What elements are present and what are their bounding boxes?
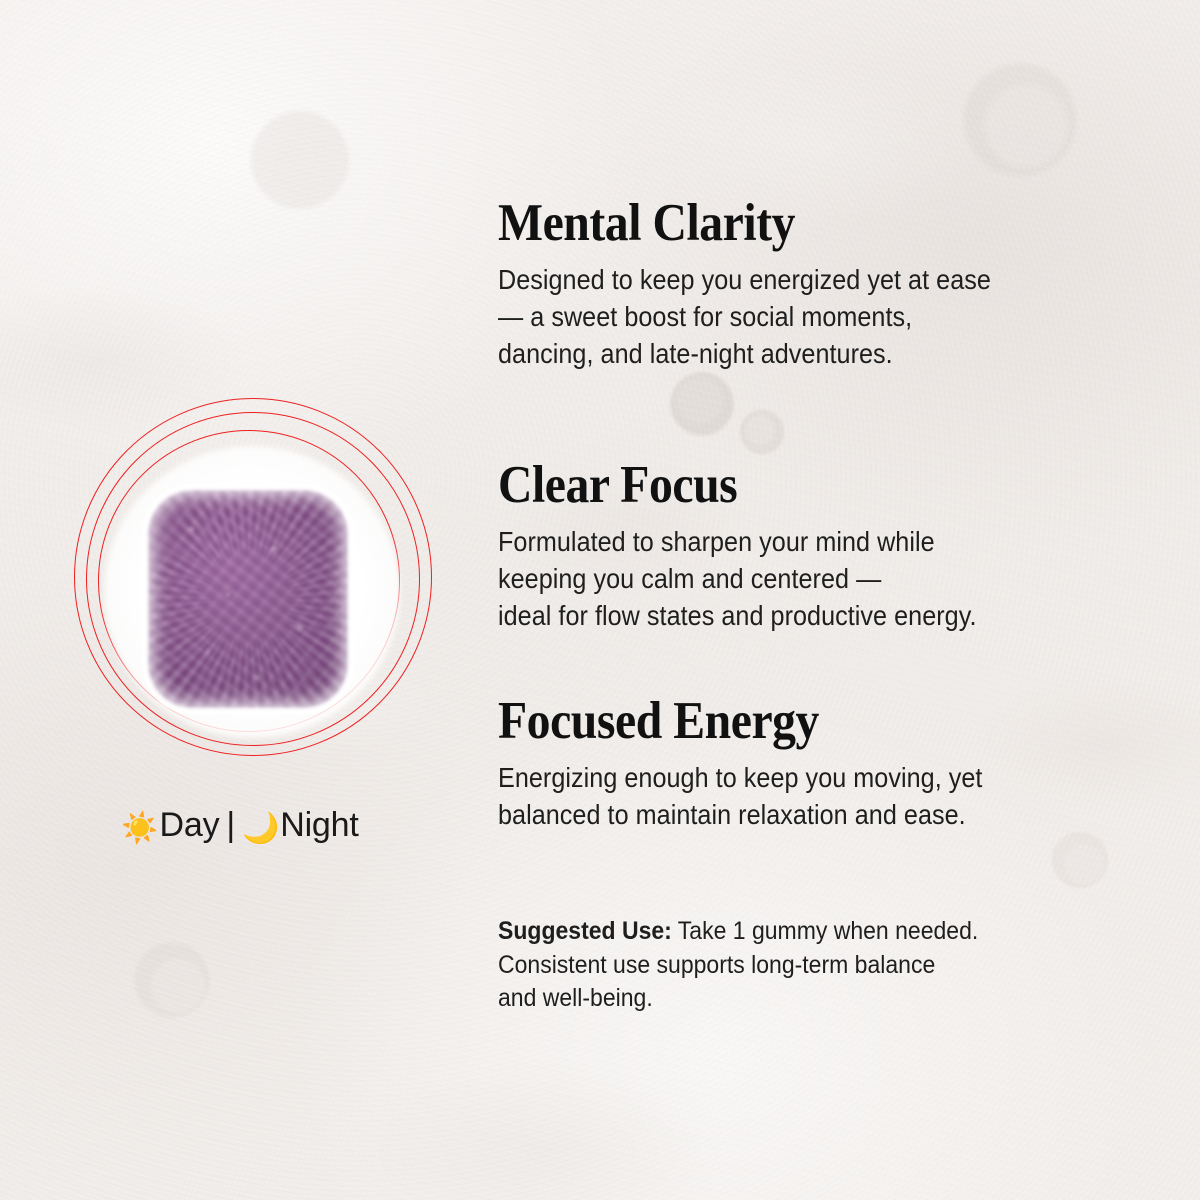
gummy-image [92,432,412,752]
suggested-use-line-2: Consistent use supports long-term balanc… [498,949,1068,983]
separator: | [226,806,235,844]
copy-column: Mental Clarity Designed to keep you ener… [498,0,1138,1200]
section-focused-energy: Focused Energy Energizing enough to keep… [498,694,1118,833]
suggested-use-label: Suggested Use: [498,917,672,945]
body-line: ideal for flow states and productive ene… [498,597,1065,634]
section-body: Formulated to sharpen your mind while ke… [498,523,1065,634]
day-label: Day [160,806,220,844]
body-line: dancing, and late-night adventures. [498,335,1065,372]
section-heading: Clear Focus [498,458,1056,514]
body-line: — a sweet boost for social moments, [498,298,1065,335]
body-line: Energizing enough to keep you moving, ye… [498,759,1065,796]
section-body: Energizing enough to keep you moving, ye… [498,759,1065,833]
suggested-use-line-1: Suggested Use: Take 1 gummy when needed. [498,915,1068,949]
suggested-use-line-3: and well-being. [498,982,1068,1016]
product-visual: ☀️Day|🌙Night [0,0,480,1200]
body-line: Designed to keep you energized yet at ea… [498,261,1065,298]
sun-icon: ☀️ [121,812,158,845]
body-line: Formulated to sharpen your mind while [498,523,1065,560]
gummy-square [148,490,348,708]
moon-icon: 🌙 [242,812,279,845]
section-body: Designed to keep you energized yet at ea… [498,261,1065,372]
day-night-label: ☀️Day|🌙Night [0,806,480,846]
section-heading: Focused Energy [498,694,1056,750]
section-heading: Mental Clarity [498,196,1056,252]
night-label: Night [280,806,358,844]
body-line: balanced to maintain relaxation and ease… [498,796,1065,833]
product-info-card: ☀️Day|🌙Night Mental Clarity Designed to … [0,0,1200,1200]
suggested-use-note: Suggested Use: Take 1 gummy when needed.… [498,915,1118,1016]
suggested-use-value: Take 1 gummy when needed. [672,917,978,945]
suggested-use-text: Suggested Use: Take 1 gummy when needed.… [498,915,1068,1016]
body-line: keeping you calm and centered — [498,560,1065,597]
section-clear-focus: Clear Focus Formulated to sharpen your m… [498,458,1118,634]
section-mental-clarity: Mental Clarity Designed to keep you ener… [498,196,1118,372]
